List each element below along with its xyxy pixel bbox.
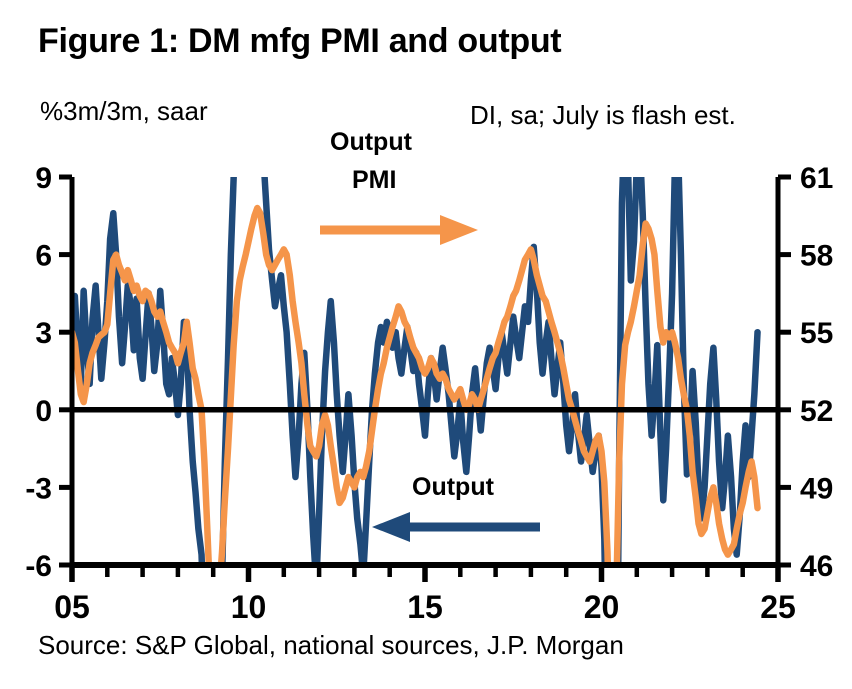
annotation-output: Output (412, 473, 494, 502)
y-axis-right-tick-label: 61 (800, 162, 833, 195)
y-axis-left-tick-label: 3 (35, 317, 52, 350)
x-axis-tick-label: 10 (231, 589, 267, 625)
chart-plot: -6-303694649525558610510152025 (0, 0, 852, 689)
y-axis-left-tick-label: -3 (25, 472, 52, 505)
y-axis-left-tick-label: 0 (35, 395, 52, 428)
y-axis-right-tick-label: 55 (800, 317, 833, 350)
annotation-arrow-right-orange (320, 215, 478, 245)
x-axis-tick-label: 05 (54, 589, 90, 625)
annotation-output-pmi-line2: PMI (352, 166, 396, 195)
annotation-output-pmi-line1: Output (330, 128, 412, 157)
x-axis-tick-label: 15 (407, 589, 443, 625)
y-axis-left-tick-label: -6 (25, 550, 52, 583)
source-note: Source: S&P Global, national sources, J.… (38, 630, 624, 661)
y-axis-right-tick-label: 52 (800, 395, 833, 428)
x-axis-tick-label: 25 (760, 589, 796, 625)
y-axis-left-tick-label: 9 (35, 162, 52, 195)
y-axis-right-tick-label: 46 (800, 550, 833, 583)
figure-panel: Figure 1: DM mfg PMI and output %3m/3m, … (0, 0, 852, 689)
y-axis-right-tick-label: 49 (800, 472, 833, 505)
y-axis-right-tick-label: 58 (800, 240, 833, 273)
annotation-arrow-left-blue (372, 512, 540, 542)
y-axis-left-tick-label: 6 (35, 240, 52, 273)
x-axis-tick-label: 20 (584, 589, 620, 625)
